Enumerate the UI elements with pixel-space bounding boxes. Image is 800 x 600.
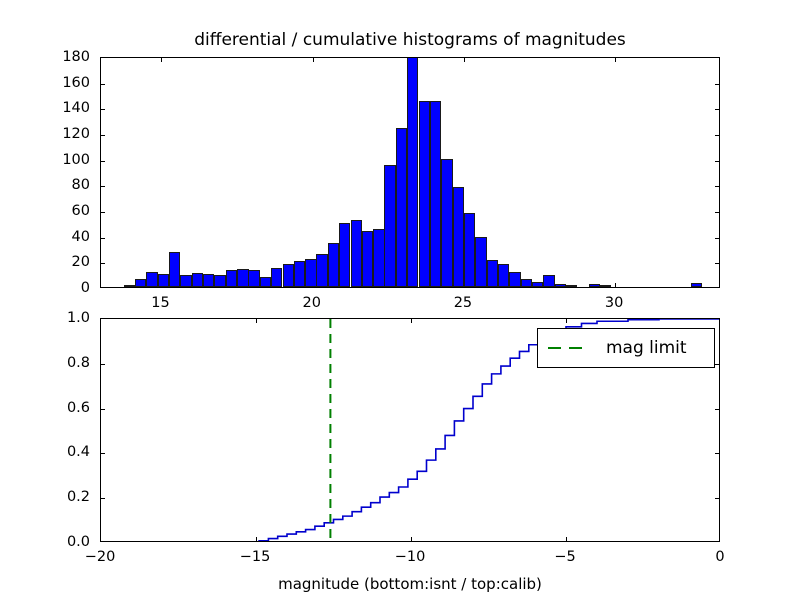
- histogram-bar: [124, 285, 135, 287]
- top-y-tick-mark: [715, 109, 719, 110]
- bottom-x-tick-label: −15: [240, 549, 271, 565]
- bottom-x-tick-label: −5: [554, 549, 575, 565]
- histogram-bar: [555, 284, 566, 287]
- top-y-tick-mark: [715, 238, 719, 239]
- legend-label-mag-limit: mag limit: [606, 338, 687, 358]
- histogram-bar: [180, 275, 191, 287]
- histogram-bar: [316, 254, 327, 287]
- top-y-tick-mark: [101, 109, 105, 110]
- top-x-tick-label: 15: [151, 295, 169, 311]
- histogram-bar: [396, 128, 407, 287]
- histogram-bar: [543, 275, 554, 287]
- bottom-panel-y-tick-labels: 0.00.20.40.60.81.0: [0, 0, 96, 600]
- bottom-y-tick-label: 0.2: [67, 489, 96, 505]
- histogram-bar: [305, 259, 316, 287]
- differential-histogram-panel: [100, 57, 720, 288]
- top-y-tick-mark: [715, 212, 719, 213]
- top-y-tick-mark: [715, 263, 719, 264]
- histogram-bar: [521, 279, 532, 287]
- histogram-bar: [464, 213, 475, 287]
- top-x-tick-mark: [615, 283, 616, 287]
- histogram-bar: [158, 274, 169, 287]
- histogram-bar: [691, 283, 702, 287]
- bottom-y-tick-label: 0.6: [67, 400, 96, 416]
- histogram-bar: [373, 229, 384, 287]
- histogram-bar: [248, 270, 259, 287]
- histogram-bar: [487, 260, 498, 287]
- bottom-y-tick-label: 0.0: [67, 534, 96, 550]
- top-y-tick-mark: [101, 263, 105, 264]
- bottom-y-tick-label: 0.8: [67, 355, 96, 371]
- top-y-tick-mark: [715, 186, 719, 187]
- histogram-bar: [351, 220, 362, 287]
- top-x-tick-label: 30: [605, 295, 623, 311]
- top-x-tick-mark: [615, 58, 616, 62]
- histogram-bar: [566, 285, 577, 287]
- histogram-bar: [192, 273, 203, 287]
- histogram-bar: [135, 279, 146, 287]
- figure-canvas: differential / cumulative histograms of …: [0, 0, 800, 600]
- chart-title: differential / cumulative histograms of …: [100, 30, 720, 50]
- top-y-tick-mark: [715, 84, 719, 85]
- top-y-tick-mark: [101, 84, 105, 85]
- histogram-bar: [475, 237, 486, 287]
- histogram-bar: [328, 243, 339, 287]
- histogram-bar: [453, 187, 464, 287]
- histogram-bar: [214, 275, 225, 287]
- histogram-bar: [283, 264, 294, 287]
- histogram-plot-area: [101, 58, 719, 287]
- top-y-tick-mark: [101, 186, 105, 187]
- top-y-tick-mark: [101, 135, 105, 136]
- histogram-bar: [169, 252, 180, 287]
- histogram-bar: [498, 264, 509, 287]
- histogram-bar: [294, 261, 305, 287]
- histogram-bar: [362, 231, 373, 287]
- mag-limit-line-icon: [548, 347, 592, 349]
- top-x-tick-mark: [161, 58, 162, 62]
- histogram-bar: [407, 58, 418, 287]
- histogram-bar: [237, 269, 248, 287]
- histogram-bar: [203, 274, 214, 287]
- histogram-bar: [226, 270, 237, 287]
- histogram-bar: [509, 272, 520, 287]
- top-x-tick-mark: [464, 58, 465, 62]
- bottom-x-tick-label: −20: [85, 549, 116, 565]
- histogram-bar: [532, 282, 543, 287]
- top-y-tick-mark: [715, 161, 719, 162]
- histogram-bar: [271, 268, 282, 287]
- top-y-tick-mark: [101, 161, 105, 162]
- top-y-tick-mark: [101, 238, 105, 239]
- bottom-y-tick-label: 0.4: [67, 444, 96, 460]
- top-x-tick-label: 25: [454, 295, 472, 311]
- bottom-panel-x-axis-label: magnitude (bottom:isnt / top:calib): [100, 575, 720, 593]
- histogram-bar: [384, 165, 395, 287]
- histogram-bar: [441, 159, 452, 287]
- top-y-tick-mark: [715, 135, 719, 136]
- legend: mag limit: [537, 328, 715, 368]
- top-x-tick-mark: [313, 58, 314, 62]
- histogram-bar: [600, 285, 611, 287]
- histogram-bar: [419, 101, 430, 287]
- bottom-x-tick-label: 0: [715, 549, 724, 565]
- histogram-bar: [430, 101, 441, 287]
- top-y-tick-mark: [101, 212, 105, 213]
- bottom-y-tick-label: 1.0: [67, 310, 96, 326]
- histogram-bar: [339, 223, 350, 287]
- top-x-tick-label: 20: [302, 295, 320, 311]
- histogram-bar: [589, 284, 600, 287]
- bottom-x-tick-label: −10: [395, 549, 426, 565]
- histogram-bar: [260, 277, 271, 287]
- histogram-bar: [146, 272, 157, 287]
